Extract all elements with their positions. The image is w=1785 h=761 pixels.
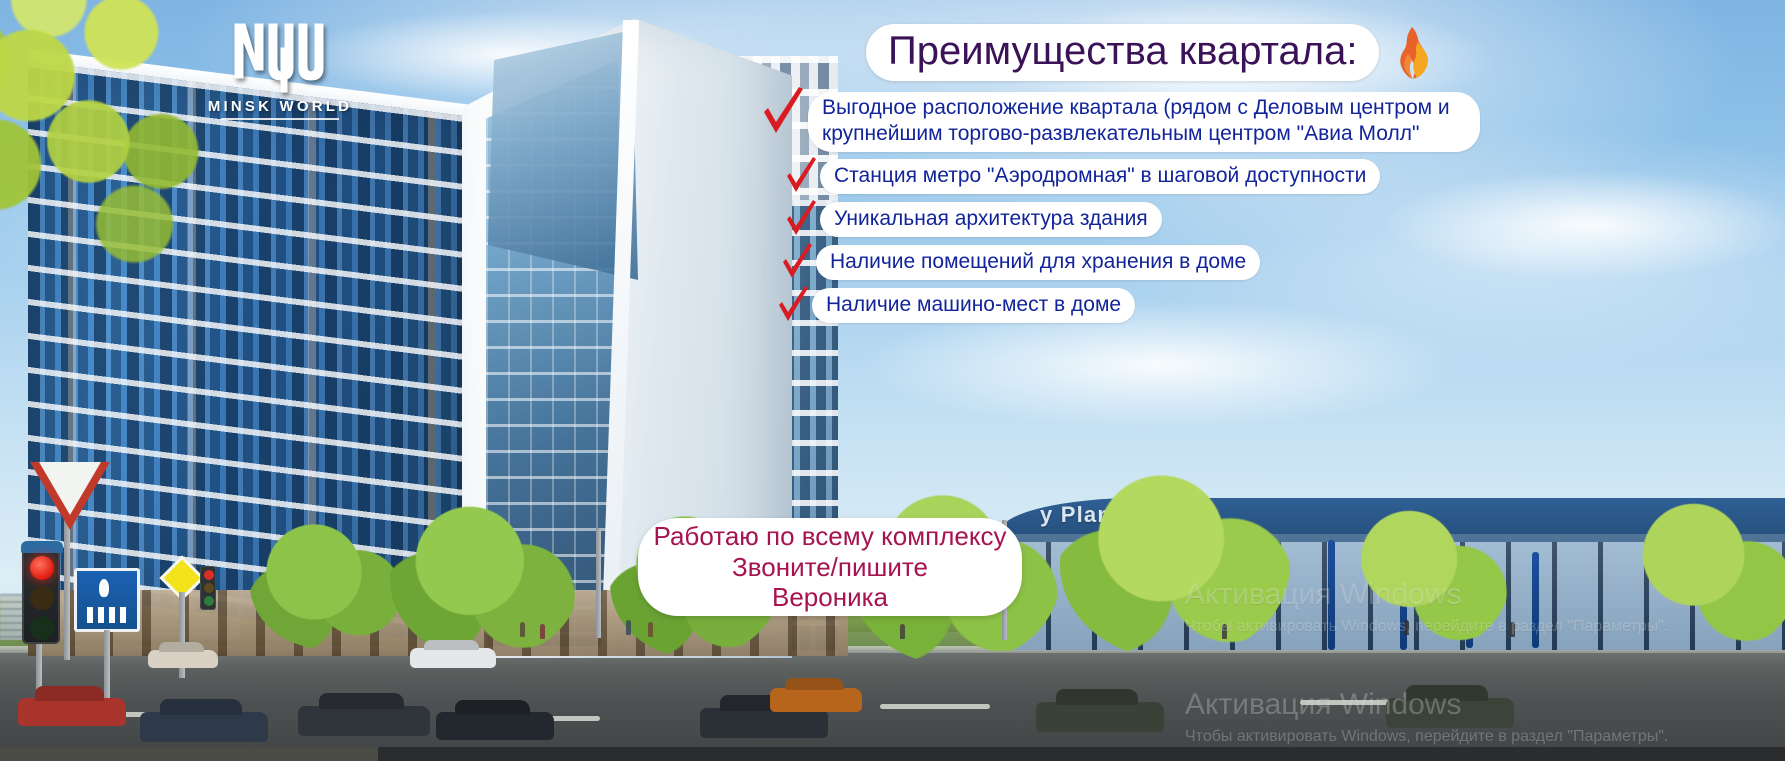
bottom-bar <box>378 747 1785 761</box>
contact-line-2: Звоните/пишите <box>732 552 928 583</box>
pedestrian <box>1510 622 1515 637</box>
checkmark-icon <box>780 243 814 283</box>
logo-divider <box>221 118 339 120</box>
yield-road-sign <box>30 462 110 532</box>
fire-icon <box>1387 26 1435 80</box>
checkmark-icon <box>760 86 806 140</box>
traffic-light-yellow-lamp <box>30 586 54 610</box>
traffic-light-hood <box>21 541 63 553</box>
list-item: Уникальная архитектура здания <box>784 202 1480 240</box>
brand-name: MINSK WORLD <box>205 98 355 115</box>
parked-car <box>298 706 430 736</box>
street-tree <box>1060 470 1290 660</box>
advertisement-image: y Planet Pl <box>0 0 1785 761</box>
bottom-bar-left <box>0 747 378 761</box>
list-item-label: Наличие помещений для хранения в доме <box>816 245 1260 280</box>
traffic-light-red-lamp <box>30 556 54 580</box>
road-lane-marking <box>880 704 990 709</box>
list-item-label: Выгодное расположение квартала (рядом с … <box>808 92 1480 152</box>
contact-line-1: Работаю по всему комплексу <box>653 521 1006 552</box>
moving-car <box>1386 698 1514 728</box>
page-title: Преимущества квартала: <box>866 24 1379 81</box>
traffic-light <box>22 548 60 644</box>
pedestrian-crossing-sign <box>74 568 140 632</box>
mall-flag-banner <box>1532 552 1539 648</box>
advantages-list: Выгодное расположение квартала (рядом с … <box>760 92 1480 331</box>
parked-car <box>410 648 496 668</box>
brand-logo: MINSK WORLD <box>205 18 355 120</box>
mw-monogram-icon <box>225 18 335 96</box>
list-item-label: Уникальная архитектура здания <box>820 202 1162 237</box>
list-item-label: Наличие машино-мест в доме <box>812 288 1135 323</box>
street-tree <box>1330 500 1510 655</box>
checkmark-icon <box>776 286 810 326</box>
street-tree <box>1610 492 1785 657</box>
pedestrian <box>520 622 525 637</box>
moving-car <box>770 688 862 712</box>
pedestrian <box>1222 624 1227 639</box>
pedestrian <box>648 622 653 637</box>
parked-car <box>140 712 268 742</box>
list-item: Наличие машино-мест в доме <box>776 288 1480 326</box>
list-item-label: Станция метро "Аэродромная" в шаговой до… <box>820 159 1380 194</box>
list-item: Станция метро "Аэродромная" в шаговой до… <box>784 159 1480 197</box>
checkmark-icon <box>784 157 818 197</box>
list-item: Наличие помещений для хранения в доме <box>780 245 1480 283</box>
contact-line-3: Вероника <box>772 582 888 613</box>
contact-card[interactable]: Работаю по всему комплексу Звоните/пишит… <box>638 518 1022 616</box>
checkmark-icon <box>784 200 818 240</box>
moving-car <box>700 708 828 738</box>
secondary-traffic-light <box>200 566 216 610</box>
parked-car <box>18 698 126 726</box>
pedestrian <box>1404 620 1409 635</box>
street-lamp-post <box>596 528 601 638</box>
street-tree <box>390 500 580 660</box>
moving-car <box>436 712 554 740</box>
traffic-light-green-lamp <box>30 616 54 640</box>
street-tree <box>250 520 410 650</box>
moving-car <box>1036 702 1164 732</box>
pedestrian <box>900 624 905 639</box>
list-item: Выгодное расположение квартала (рядом с … <box>760 92 1480 152</box>
pedestrian <box>540 624 545 639</box>
parked-car <box>148 650 218 668</box>
pedestrian <box>626 620 631 635</box>
headline-container: Преимущества квартала: <box>866 24 1435 81</box>
